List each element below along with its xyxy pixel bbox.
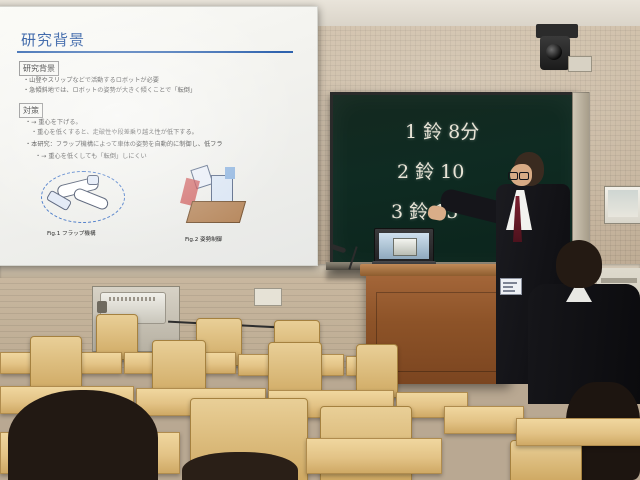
name-badge [500, 278, 522, 295]
wall-monitor-screen [608, 190, 638, 217]
slide-figure-2-caption: Fig.2 姿勢制御 [185, 235, 222, 243]
slide-heading-1: 研究背景 [19, 61, 59, 76]
photo-scene: 研究背景 研究背景 ・山登やスリップなどで活動するロボットが必要 ・急傾斜地では… [0, 0, 640, 480]
attendee-front-center-head [182, 452, 298, 480]
projection-screen: 研究背景 研究背景 ・山登やスリップなどで活動するロボットが必要 ・急傾斜地では… [0, 6, 318, 266]
attendee-right-head [556, 240, 602, 288]
slide-figure-1 [39, 169, 125, 225]
wall-monitor [604, 186, 640, 224]
desk [444, 406, 524, 434]
chair [510, 440, 582, 480]
chair [30, 336, 82, 392]
slide-bullet-2-1: ・→ 重心を下げる。 [25, 119, 82, 127]
slide-bullet-2-4: ・→ 重心を低くしても「転倒」しにくい [35, 153, 147, 161]
slide-figure-1-caption: Fig.1 フラップ機構 [47, 229, 96, 237]
slide-bullet-1-1: ・山登やスリップなどで活動するロボットが必要 [23, 77, 159, 85]
slide-title-underline [17, 51, 293, 53]
blackboard-line-2: 2 鈴 10 [397, 157, 464, 184]
glasses-icon [508, 172, 530, 179]
slide-title: 研究背景 [21, 29, 85, 50]
slide-figure-2 [171, 167, 263, 229]
camera-lens-icon [546, 44, 562, 60]
attendee-front-left-head [8, 390, 158, 480]
slide-bullet-2-2: ・重心を低くすると、走破性や段差乗り越え性が低下する。 [31, 129, 198, 137]
projector-lens-icon [97, 301, 107, 313]
desk [516, 418, 640, 446]
slide-heading-2: 対策 [19, 103, 43, 118]
wall-speaker-icon [568, 56, 592, 72]
desk [306, 438, 442, 474]
blackboard-line-1: 1 鈴 8分 [405, 117, 479, 144]
slide-bullet-1-2: ・急傾斜地では、ロボットの姿勢が大きく傾くことで「転倒」 [23, 87, 196, 95]
slide-bullet-2-3: ・本研究：フラップ機構によって車体の姿勢を自動的に制御し、低フラ [25, 141, 223, 149]
wall-outlet [254, 288, 282, 306]
